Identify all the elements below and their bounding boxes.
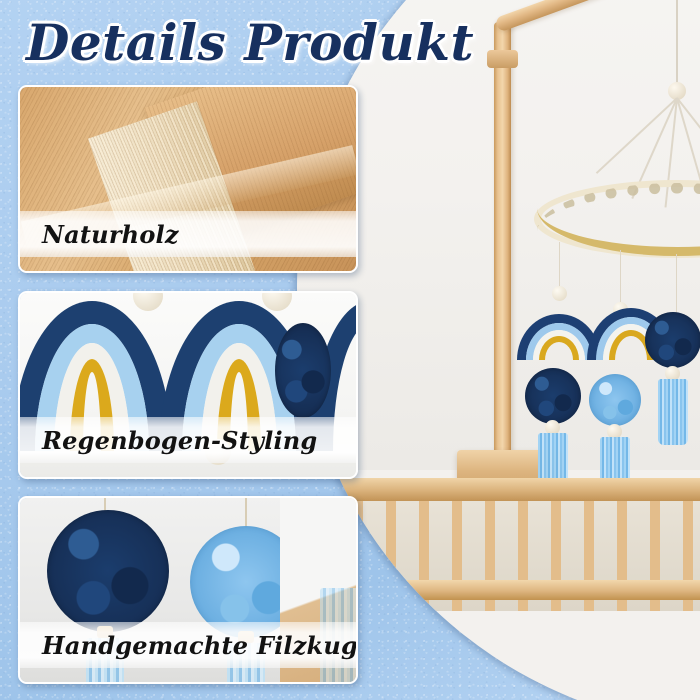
product-detail-infographic: Details Produkt Naturholz (0, 0, 700, 700)
hanging-strand (620, 250, 621, 310)
mobile-stand-post (494, 22, 511, 492)
mobile-post-joint (487, 50, 518, 68)
filzkugeln-caption-band: Handgemachte Filzkugeln (20, 622, 356, 668)
pom-pom-navy-partial (275, 323, 331, 418)
hanging-bead (552, 286, 567, 301)
filzkugeln-caption-text: Handgemachte Filzkugeln (20, 631, 358, 660)
page-title: Details Produkt (26, 13, 474, 73)
feature-panel-naturholz: Naturholz (18, 85, 358, 273)
feature-panel-regenbogen: Regenbogen-Styling (18, 291, 358, 479)
regenbogen-caption-band: Regenbogen-Styling (20, 417, 356, 463)
naturholz-caption-text: Naturholz (20, 220, 179, 249)
pom-pom-navy (525, 368, 581, 424)
pom-pom-lightblue (589, 374, 641, 426)
feature-panel-filzkugeln: Handgemachte Filzkugeln (18, 496, 358, 684)
mobile-cord (676, 0, 678, 88)
pompom-closeup-navy (47, 510, 169, 632)
crib-top-rail (297, 478, 700, 501)
pom-pom-navy (645, 312, 700, 368)
tassel (658, 379, 688, 445)
naturholz-caption-band: Naturholz (20, 211, 356, 257)
regenbogen-caption-text: Regenbogen-Styling (20, 426, 317, 455)
